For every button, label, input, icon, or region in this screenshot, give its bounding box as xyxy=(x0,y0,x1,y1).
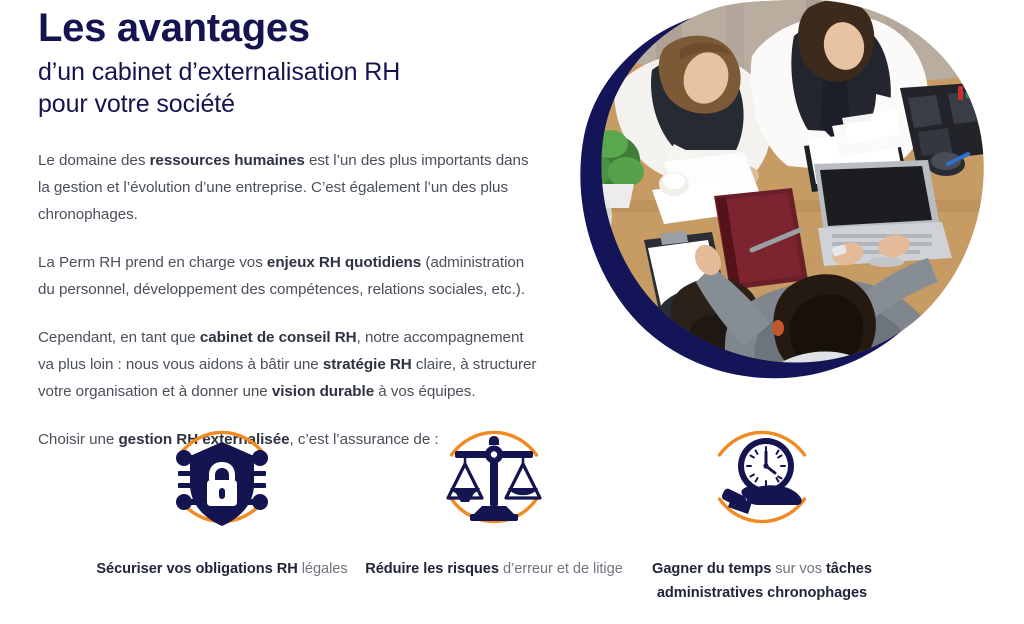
text-run: La Perm RH prend en charge vos xyxy=(38,254,267,271)
body-paragraph-2: La Perm RH prend en charge vos enjeux RH… xyxy=(38,249,538,303)
hero-photo xyxy=(556,0,1024,386)
desk-organizer xyxy=(900,82,1002,162)
content-column: Les avantages d’un cabinet d’externalisa… xyxy=(38,6,538,453)
hero-image xyxy=(556,0,1024,386)
page-title: Les avantages d’un cabinet d’externalisa… xyxy=(38,6,538,121)
text-run-bold: stratégie RH xyxy=(323,356,412,373)
text-run-bold: Réduire les risques xyxy=(365,561,499,577)
feature-caption: Réduire les risques d’erreur et de litig… xyxy=(344,558,644,582)
shield-lock-circuit-icon xyxy=(162,414,282,540)
hand-shape xyxy=(721,485,802,514)
feature-securite: Sécuriser vos obligations RH légales xyxy=(72,398,372,582)
text-run: sur vos xyxy=(771,561,826,577)
text-run-bold: cabinet de conseil RH xyxy=(200,329,357,346)
hand-holding-clock-icon xyxy=(702,414,822,540)
feature-caption: Sécuriser vos obligations RH légales xyxy=(72,558,372,582)
features-row: Sécuriser vos obligations RH légales xyxy=(0,398,1024,624)
body-paragraph-3: Cependant, en tant que cabinet de consei… xyxy=(38,324,538,405)
body-paragraph-1: Le domaine des ressources humaines est l… xyxy=(38,147,538,228)
leather-notebook xyxy=(714,188,808,290)
balance-scales-icon xyxy=(434,414,554,540)
text-run-bold: enjeux RH quotidiens xyxy=(267,254,421,271)
feature-risques: Réduire les risques d’erreur et de litig… xyxy=(344,398,644,582)
page-title-line-2: d’un cabinet d’externalisation RH xyxy=(38,56,538,89)
text-run-bold: Sécuriser vos obligations RH xyxy=(96,561,297,577)
feature-caption: Gagner du temps sur vos tâches administr… xyxy=(612,558,912,605)
page-title-line-3: pour votre société xyxy=(38,88,538,121)
feature-temps: Gagner du temps sur vos tâches administr… xyxy=(612,398,912,605)
hero-blob-graphic xyxy=(556,0,1024,386)
text-run-bold: ressources humaines xyxy=(150,152,305,169)
page-title-line-1: Les avantages xyxy=(38,6,538,51)
text-run-bold: Gagner du temps xyxy=(652,561,771,577)
text-run: légales xyxy=(298,561,348,577)
text-run: Le domaine des xyxy=(38,152,150,169)
text-run: Cependant, en tant que xyxy=(38,329,200,346)
page-root: Les avantages d’un cabinet d’externalisa… xyxy=(0,0,1024,624)
text-run: d’erreur et de litige xyxy=(499,561,623,577)
